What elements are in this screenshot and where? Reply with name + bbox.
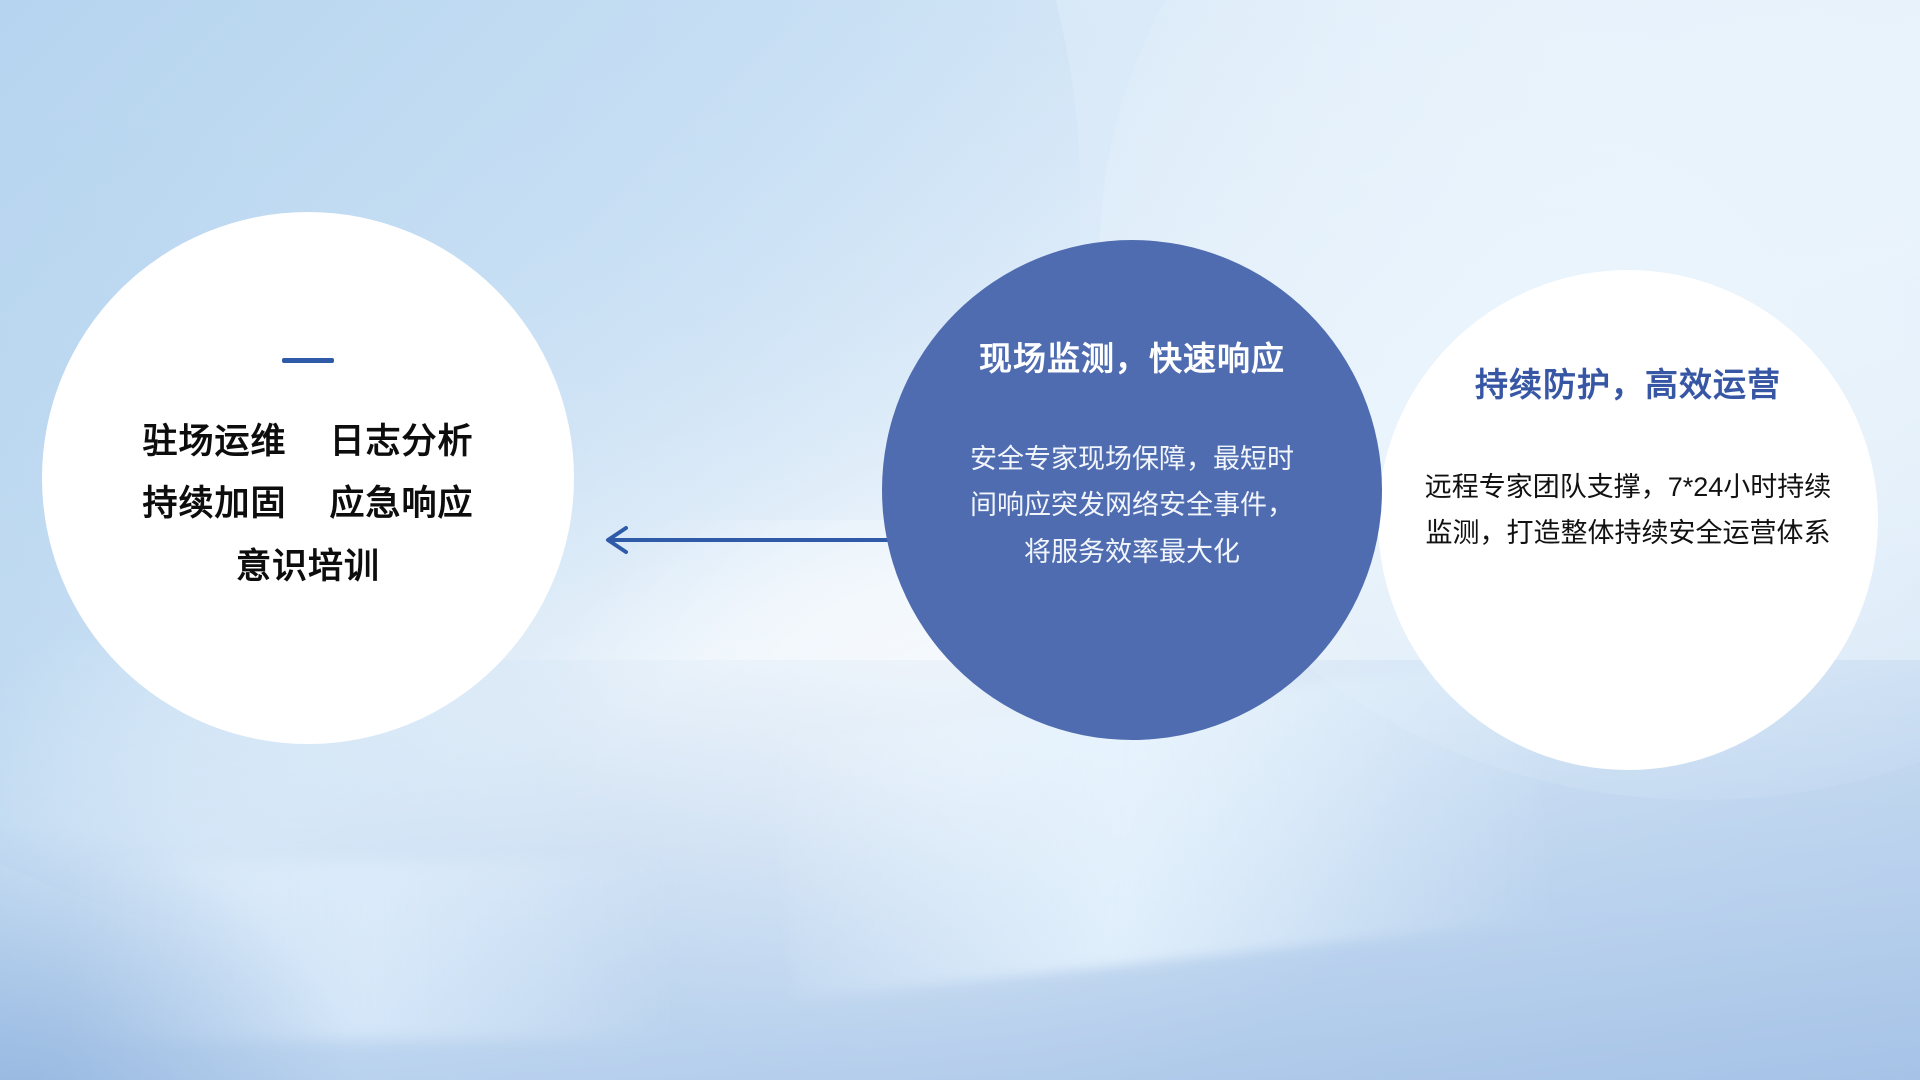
middle-circle-body: 安全专家现场保障，最短时间响应突发网络安全事件，将服务效率最大化 [962, 436, 1302, 575]
capability-row-3: 意识培训 [143, 536, 474, 598]
capability-row-1: 驻场运维 日志分析 [143, 411, 474, 473]
slide-canvas: 驻场运维 日志分析 持续加固 应急响应 意识培训 持续防护，高效运营 远程专家团… [0, 0, 1920, 1080]
capability-circle-right[interactable]: 持续防护，高效运营 远程专家团队支撑，7*24小时持续监测，打造整体持续安全运营… [1378, 270, 1878, 770]
right-circle-heading: 持续防护，高效运营 [1475, 358, 1781, 406]
arrow-left-icon [592, 520, 912, 560]
capability-circle-middle[interactable]: 现场监测，快速响应 安全专家现场保障，最短时间响应突发网络安全事件，将服务效率最… [882, 240, 1382, 740]
capability-list: 驻场运维 日志分析 持续加固 应急响应 意识培训 [143, 411, 474, 598]
right-circle-body: 远程专家团队支撑，7*24小时持续监测，打造整体持续安全运营体系 [1418, 464, 1838, 557]
capability-row-2: 持续加固 应急响应 [143, 473, 474, 535]
capability-circle-left[interactable]: 驻场运维 日志分析 持续加固 应急响应 意识培训 [42, 212, 574, 744]
middle-circle-heading: 现场监测，快速响应 [979, 332, 1285, 380]
background-corner-shade [0, 820, 360, 1080]
divider-dash [282, 358, 334, 363]
